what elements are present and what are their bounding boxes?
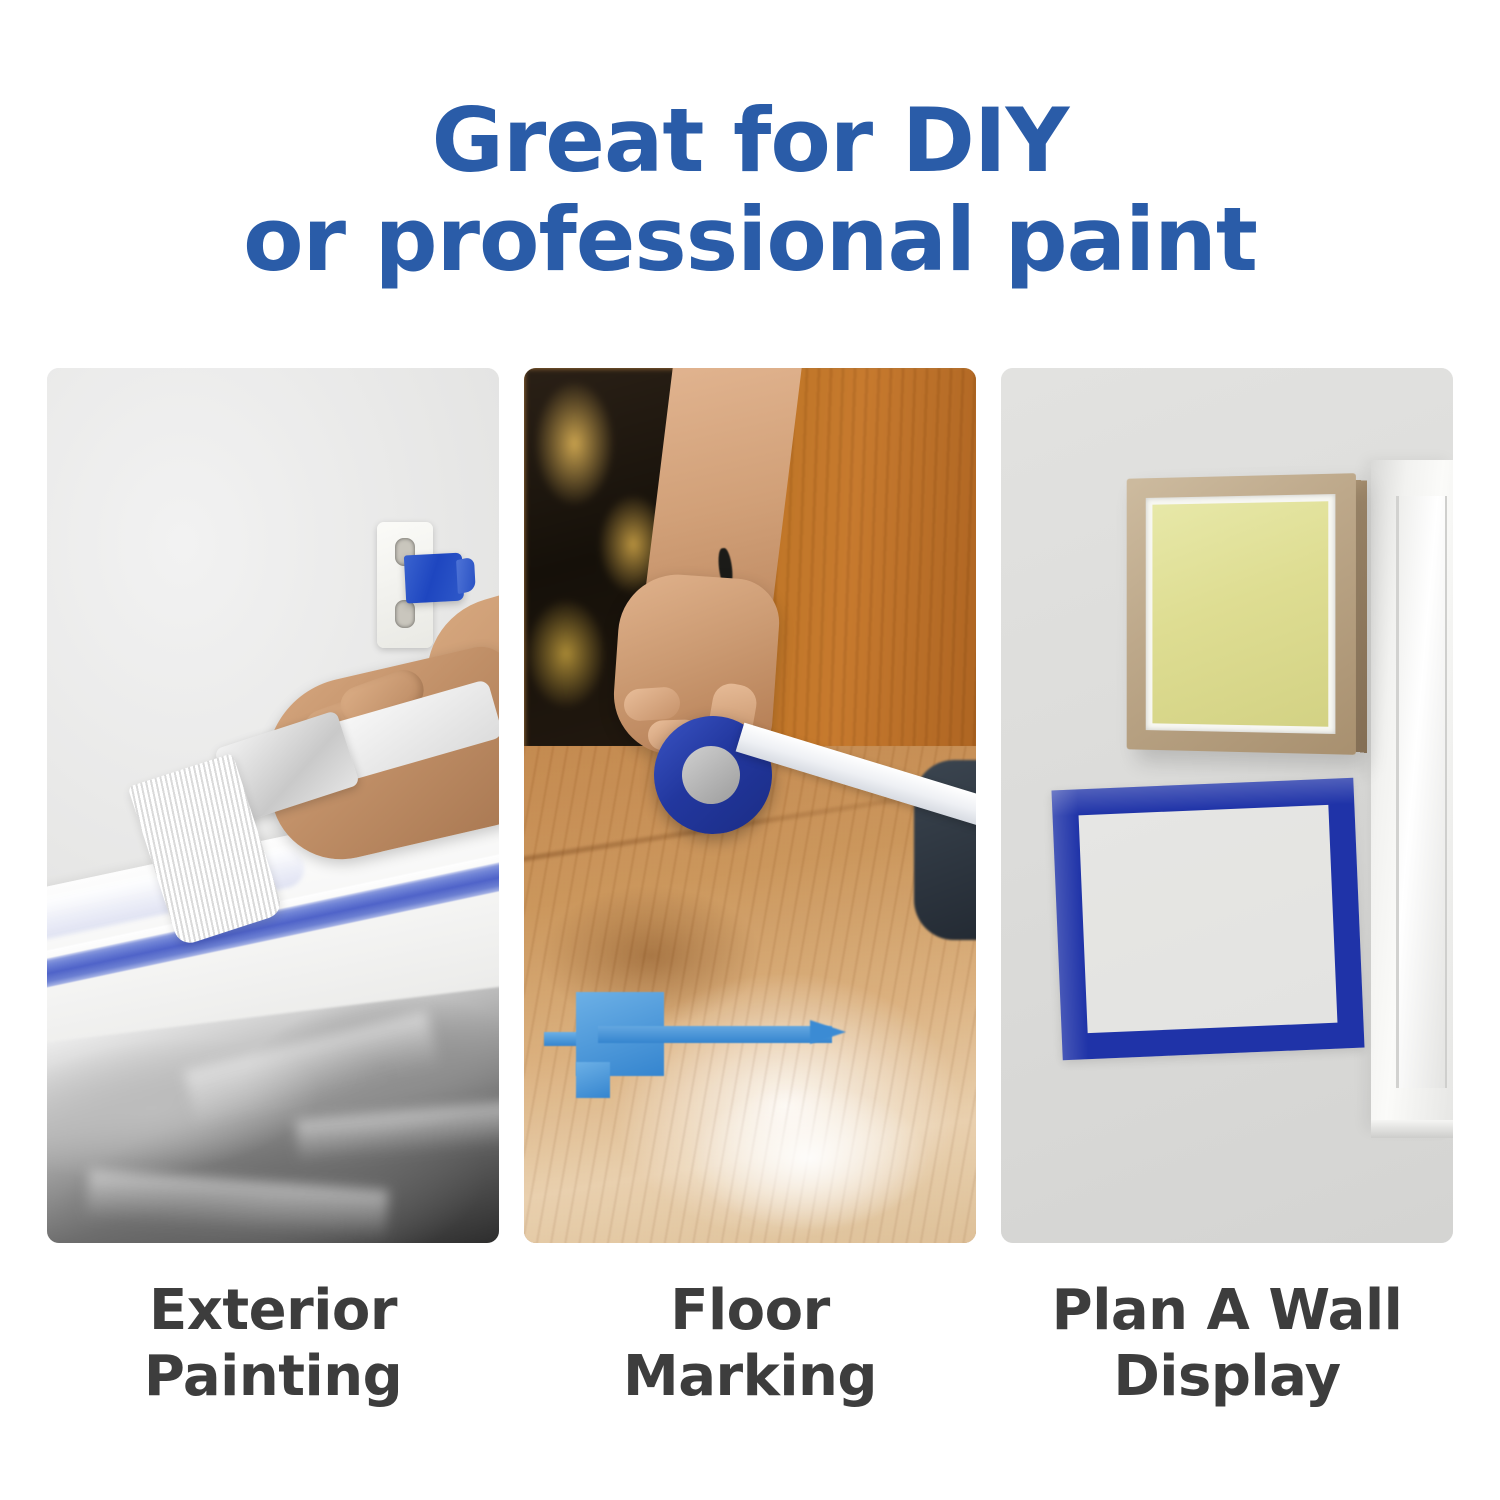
feature-panel-strip — [47, 368, 1453, 1243]
caption-line-2: Painting — [47, 1344, 499, 1410]
floor-marking-arrow-notch — [576, 1062, 610, 1098]
caption-line-2: Display — [1001, 1344, 1453, 1410]
panel-floor-marking — [524, 368, 976, 1243]
caption-line-1: Exterior — [47, 1278, 499, 1344]
caption-floor-marking: Floor Marking — [524, 1278, 976, 1458]
door-ledge — [1371, 1120, 1453, 1138]
caption-line-1: Floor — [524, 1278, 976, 1344]
door-panel — [1396, 496, 1447, 1088]
page-title: Great for DIY or professional paint — [0, 92, 1500, 289]
framed-artwork — [1152, 501, 1328, 726]
picture-frame-mat — [1146, 494, 1336, 734]
blue-tape-on-outlet — [404, 553, 464, 604]
hand-knuckle — [623, 686, 681, 722]
caption-line-2: Marking — [524, 1344, 976, 1410]
panel-exterior-painting — [47, 368, 499, 1243]
panel-plan-a-wall-display — [1001, 368, 1453, 1243]
floor-marking-arrow-tip — [810, 1020, 846, 1044]
outlet-socket-lower — [395, 600, 415, 628]
panel-caption-row: Exterior Painting Floor Marking Plan A W… — [47, 1278, 1453, 1458]
floor-light-glare — [644, 1058, 974, 1243]
blue-tape-display-outline — [1051, 778, 1364, 1060]
floor-marking-arrow-shaft — [598, 1026, 832, 1043]
caption-line-1: Plan A Wall — [1001, 1278, 1453, 1344]
page-title-line-1: Great for DIY — [0, 92, 1500, 191]
wood-picture-frame — [1127, 473, 1356, 755]
page-title-line-2: or professional paint — [0, 191, 1500, 290]
caption-plan-a-wall-display: Plan A Wall Display — [1001, 1278, 1453, 1458]
caption-exterior-painting: Exterior Painting — [47, 1278, 499, 1458]
